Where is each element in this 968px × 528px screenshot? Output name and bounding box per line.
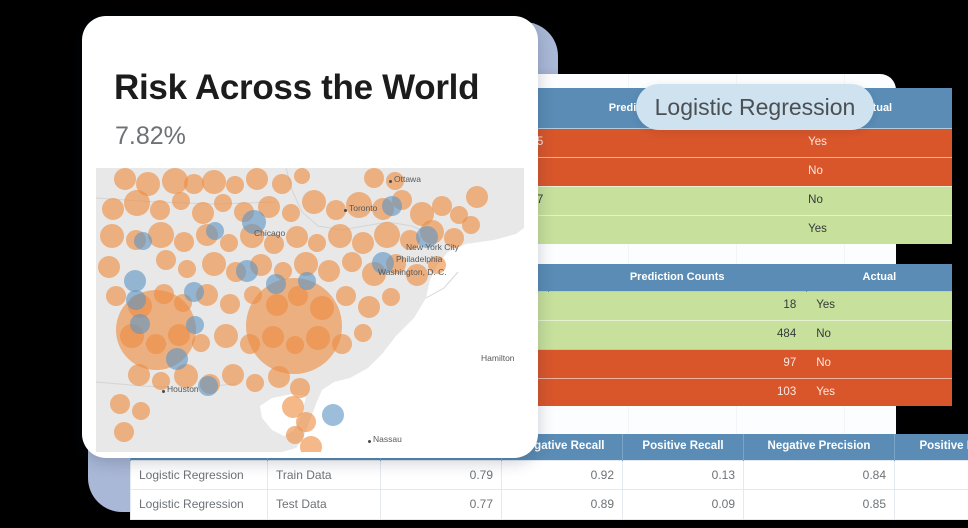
column-header-positive-precision[interactable]: Positive Precision bbox=[895, 434, 968, 460]
map-bubble bbox=[206, 222, 224, 240]
map-bubble bbox=[110, 394, 130, 414]
map-bubble bbox=[308, 234, 326, 252]
city-label-nassau: Nassau bbox=[373, 434, 402, 444]
map-bubble bbox=[286, 336, 304, 354]
risk-percentage-value: 7.82% bbox=[115, 122, 186, 151]
cell-negative-recall: 0.92 bbox=[502, 460, 623, 489]
cell-positive-precision: 0.12 bbox=[895, 490, 968, 519]
map-bubble bbox=[306, 326, 330, 350]
map-bubble bbox=[286, 226, 308, 248]
map-bubble bbox=[336, 286, 356, 306]
cell-model: Logistic Regression bbox=[131, 490, 268, 519]
map-bubble bbox=[374, 222, 400, 248]
map-bubble bbox=[262, 326, 284, 348]
map-bubble bbox=[272, 174, 292, 194]
map-bubble bbox=[268, 366, 290, 388]
map-bubble bbox=[178, 260, 196, 278]
map-bubble bbox=[186, 316, 204, 334]
map-bubble bbox=[354, 324, 372, 342]
map-bubble bbox=[154, 284, 174, 304]
map-bubble bbox=[332, 334, 352, 354]
map-bubble bbox=[214, 194, 232, 212]
cell-actual: Yes bbox=[806, 378, 952, 406]
map-bubble bbox=[220, 294, 240, 314]
map-bubble bbox=[364, 168, 384, 188]
cell-actual: Yes bbox=[798, 215, 952, 243]
map-bubble bbox=[462, 216, 480, 234]
map-bubble bbox=[300, 436, 322, 452]
city-label-washington-dc: Washington, D. C. bbox=[378, 267, 447, 277]
cell-count: 537 bbox=[514, 186, 798, 215]
map-bubble bbox=[240, 334, 260, 354]
screenshot-stage: Confusion Matrix Logistic Regression Pre… bbox=[0, 0, 968, 528]
map-bubble bbox=[358, 296, 380, 318]
column-header-positive-recall[interactable]: Positive Recall bbox=[623, 434, 744, 460]
city-dot bbox=[368, 440, 371, 443]
map-bubble bbox=[352, 232, 374, 254]
cell-positive-recall: 0.13 bbox=[623, 460, 744, 489]
cell-actual: No bbox=[798, 186, 952, 215]
model-name-badge[interactable]: Logistic Regression bbox=[636, 84, 874, 130]
cell-count: 105 bbox=[514, 129, 798, 158]
map-bubble bbox=[466, 186, 488, 208]
map-bubble bbox=[342, 252, 362, 272]
map-bubble bbox=[102, 198, 124, 220]
map-bubble bbox=[114, 422, 134, 442]
map-bubble bbox=[192, 202, 214, 224]
map-bubble bbox=[198, 376, 218, 396]
city-dot bbox=[162, 390, 165, 393]
city-label-houston: Houston bbox=[167, 384, 199, 394]
map-bubble bbox=[126, 290, 146, 310]
map-bubble bbox=[290, 378, 310, 398]
map-bubble bbox=[214, 324, 238, 348]
map-bubble bbox=[146, 334, 166, 354]
map-bubble bbox=[246, 374, 264, 392]
map-bubble bbox=[266, 274, 286, 294]
cell-actual: No bbox=[798, 158, 952, 187]
cell-count: 44 bbox=[514, 158, 798, 187]
city-label-ottawa: Ottawa bbox=[394, 174, 421, 184]
map-bubble bbox=[282, 204, 300, 222]
map-bubble bbox=[150, 200, 170, 220]
map-bubble bbox=[134, 232, 152, 250]
map-bubble bbox=[310, 296, 334, 320]
map-bubble bbox=[302, 190, 326, 214]
map-bubble bbox=[222, 364, 244, 386]
map-bubble bbox=[322, 404, 344, 426]
model-name-badge-label: Logistic Regression bbox=[655, 94, 856, 121]
risk-map-card: Risk Across the World 7.82% bbox=[82, 16, 538, 458]
map-bubble bbox=[114, 168, 136, 190]
map-bubble bbox=[202, 252, 226, 276]
cell-actual: No bbox=[806, 320, 952, 349]
map-bubble bbox=[298, 272, 316, 290]
map-bubble bbox=[106, 286, 126, 306]
cell-count: 484 bbox=[548, 320, 806, 349]
map-bubble bbox=[184, 282, 204, 302]
map-bubble bbox=[192, 334, 210, 352]
map-bubble bbox=[128, 364, 150, 386]
column-header-negative-precision[interactable]: Negative Precision bbox=[744, 434, 895, 460]
map-bubble bbox=[100, 224, 124, 248]
map-bubble bbox=[98, 256, 120, 278]
page-title: Risk Across the World bbox=[114, 68, 479, 108]
cell-negative-precision: 0.85 bbox=[744, 490, 895, 519]
map-bubble bbox=[124, 190, 150, 216]
map-bubble bbox=[202, 170, 226, 194]
map-bubble bbox=[382, 196, 402, 216]
map-bubble bbox=[236, 260, 258, 282]
cell-count: 16 bbox=[514, 215, 798, 243]
cell-positive-precision: 0.27 bbox=[895, 460, 968, 489]
map-bubble bbox=[318, 260, 340, 282]
city-label-philadelphia: Philadelphia bbox=[396, 254, 442, 264]
column-header-actual[interactable]: Actual bbox=[806, 264, 952, 292]
column-header-prediction-counts[interactable]: Prediction Counts bbox=[548, 264, 806, 292]
bubble-map[interactable]: Ottawa Toronto Chicago New York City Phi… bbox=[96, 168, 524, 452]
map-bubble bbox=[326, 200, 346, 220]
table-row[interactable]: Logistic Regression Test Data 0.77 0.89 … bbox=[131, 490, 968, 519]
cell-count: 18 bbox=[548, 292, 806, 321]
map-bubble bbox=[172, 192, 190, 210]
map-bubble bbox=[244, 286, 262, 304]
map-bubble bbox=[266, 294, 288, 316]
city-label-hamilton: Hamilton bbox=[481, 353, 515, 363]
city-dot bbox=[389, 180, 392, 183]
cell-actual: Yes bbox=[798, 129, 952, 158]
map-bubble bbox=[166, 348, 188, 370]
cell-negative-precision: 0.84 bbox=[744, 460, 895, 489]
map-bubble bbox=[226, 176, 244, 194]
table-row[interactable]: Logistic Regression Train Data 0.79 0.92… bbox=[131, 460, 968, 489]
map-bubble bbox=[148, 222, 174, 248]
map-bubble bbox=[432, 196, 452, 216]
cell-positive-recall: 0.09 bbox=[623, 490, 744, 519]
map-bubble bbox=[124, 270, 146, 292]
map-bubble bbox=[328, 224, 352, 248]
city-dot bbox=[344, 209, 347, 212]
cell-negative-recall: 0.89 bbox=[502, 490, 623, 519]
city-label-new-york-city: New York City bbox=[406, 242, 459, 252]
cell-actual: No bbox=[806, 349, 952, 378]
city-label-toronto: Toronto bbox=[349, 203, 377, 213]
map-bubble bbox=[184, 174, 204, 194]
city-label-chicago: Chicago bbox=[254, 228, 285, 238]
cell-actual: Yes bbox=[806, 292, 952, 321]
cell-dataset: Train Data bbox=[268, 460, 381, 489]
cell-count: 103 bbox=[548, 378, 806, 406]
map-bubble bbox=[174, 232, 194, 252]
map-bubble bbox=[246, 168, 268, 190]
cell-accuracy: 0.77 bbox=[381, 490, 502, 519]
map-bubble bbox=[130, 314, 150, 334]
cell-accuracy: 0.79 bbox=[381, 460, 502, 489]
cell-dataset: Test Data bbox=[268, 490, 381, 519]
map-bubble bbox=[382, 288, 400, 306]
map-bubble bbox=[220, 234, 238, 252]
cell-model: Logistic Regression bbox=[131, 460, 268, 489]
map-bubble bbox=[294, 168, 310, 184]
map-bubble bbox=[132, 402, 150, 420]
cell-count: 97 bbox=[548, 349, 806, 378]
map-bubble bbox=[156, 250, 176, 270]
